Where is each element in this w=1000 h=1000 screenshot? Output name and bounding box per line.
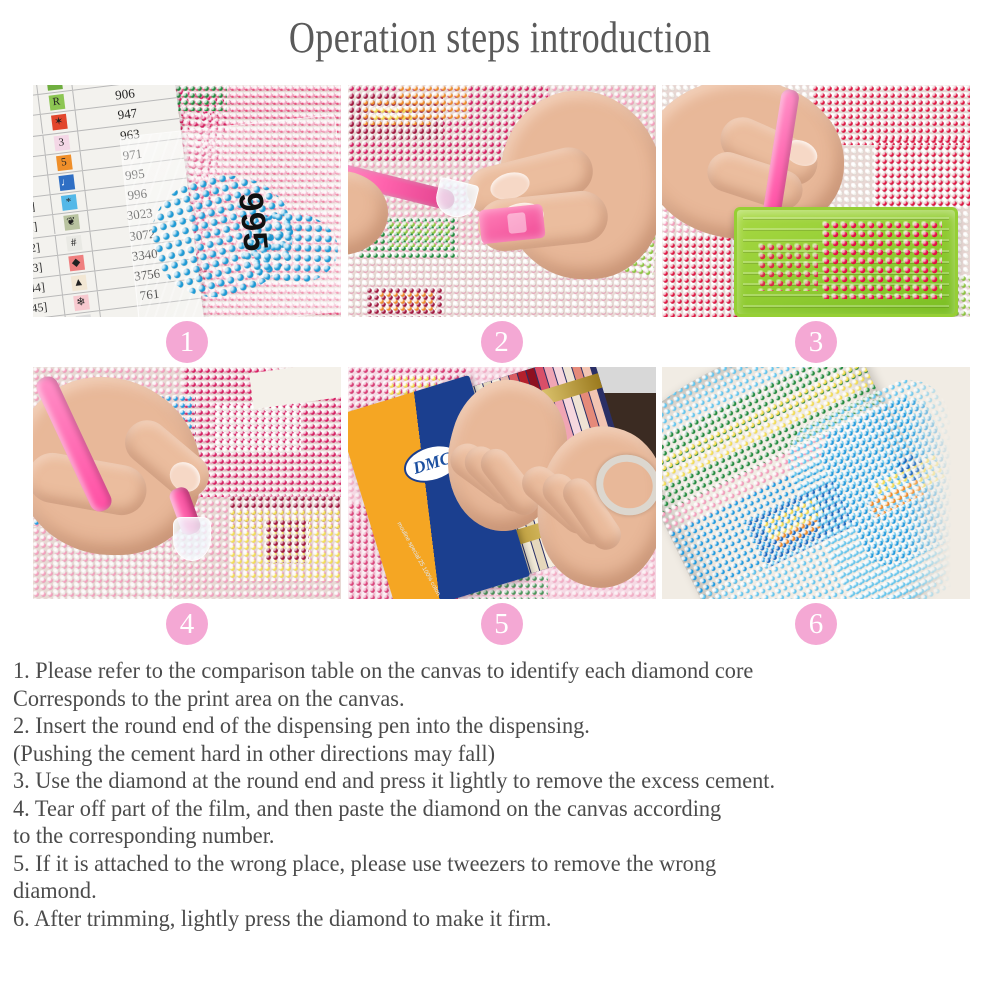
instruction-line: 4. Tear off part of the film, and then p…	[13, 795, 959, 823]
chart-index: [45]	[33, 296, 65, 317]
step-photo-1: [34]✕905 [35]R906 [36]✶947 [37]3963 [38]…	[33, 85, 341, 317]
step-badge-wrap-4: 4	[33, 599, 341, 649]
step-cell-6: 6	[662, 367, 970, 649]
step-badge-wrap-5: 5	[348, 599, 656, 649]
instruction-line: diamond.	[13, 877, 959, 905]
bead-region-dark-2	[265, 519, 309, 563]
step-cell-4: 4	[33, 367, 341, 649]
chart-symbol: ▲	[70, 275, 87, 292]
red-drills-scattered	[758, 243, 818, 291]
step-badge-5: 5	[481, 603, 523, 645]
step-photo-5: DMC mouline special 25 100% coton	[348, 367, 656, 599]
bead-region-white	[215, 405, 301, 453]
step-photo-2	[348, 85, 656, 317]
chart-symbol: R	[48, 94, 65, 111]
instruction-line: to the corresponding number.	[13, 822, 959, 850]
instruction-line: 6. After trimming, lightly press the dia…	[13, 905, 959, 933]
bead-region-orange-2	[398, 85, 468, 119]
step-photo-6	[662, 367, 970, 599]
photo-background-fade	[908, 367, 970, 599]
step-photo-4	[33, 367, 341, 599]
instruction-line: 5. If it is attached to the wrong place,…	[13, 850, 959, 878]
step-badge-wrap-6: 6	[662, 599, 970, 649]
step-badge-4: 4	[166, 603, 208, 645]
bead-region-orange-3	[378, 291, 436, 311]
chart-symbol: 3	[53, 134, 70, 151]
diamond-drill-bag: 995	[119, 114, 341, 317]
step-badge-wrap-2: 2	[348, 317, 656, 367]
step-photo-3	[662, 85, 970, 317]
step-cell-2: 2	[348, 85, 656, 367]
instruction-line: 1. Please refer to the comparison table …	[13, 657, 959, 685]
chart-symbol: *	[60, 194, 77, 211]
steps-grid: [34]✕905 [35]R906 [36]✶947 [37]3963 [38]…	[33, 85, 970, 649]
instruction-line: (Pushing the cement hard in other direct…	[13, 740, 959, 768]
chart-symbol: ◆	[68, 255, 85, 272]
bead-region-red-3	[874, 137, 970, 207]
chart-symbol: ❦	[63, 214, 80, 231]
pen-tip-icon	[173, 517, 211, 561]
step-badge-6: 6	[795, 603, 837, 645]
instruction-line: Corresponds to the print area on the can…	[13, 685, 959, 713]
dmc-box-subtext: mouline special 25 100% coton	[395, 521, 444, 599]
step-badge-wrap-3: 3	[662, 317, 970, 367]
steps-row-bottom: 4	[33, 367, 970, 649]
chart-symbol: ✕	[46, 85, 63, 91]
red-drills-in-tray	[822, 221, 942, 299]
step-cell-3: 3	[662, 85, 970, 367]
step-badge-2: 2	[481, 321, 523, 363]
chart-symbol: ♩	[58, 174, 75, 191]
cement-pad-slot	[507, 212, 527, 234]
chart-symbol	[75, 315, 92, 317]
instruction-line: 2. Insert the round end of the dispensin…	[13, 712, 959, 740]
chart-symbol: #	[65, 235, 82, 252]
bead-region-lgreen	[388, 221, 450, 247]
page-title: Operation steps introduction	[90, 0, 910, 70]
steps-row-top: [34]✕905 [35]R906 [36]✶947 [37]3963 [38]…	[33, 85, 970, 367]
step-cell-1: [34]✕905 [35]R906 [36]✶947 [37]3963 [38]…	[33, 85, 341, 367]
chart-symbol: 5	[56, 154, 73, 171]
step-badge-wrap-1: 1	[33, 317, 341, 367]
instruction-line: 3. Use the diamond at the round end and …	[13, 767, 959, 795]
chart-symbol: ❄	[73, 295, 90, 312]
bag-color-code-label: 995	[230, 191, 275, 254]
step-badge-3: 3	[795, 321, 837, 363]
chart-symbol: ✶	[51, 114, 68, 131]
step-badge-1: 1	[166, 321, 208, 363]
step-cell-5: DMC mouline special 25 100% coton 5	[348, 367, 656, 649]
instructions-list: 1. Please refer to the comparison table …	[13, 657, 988, 932]
